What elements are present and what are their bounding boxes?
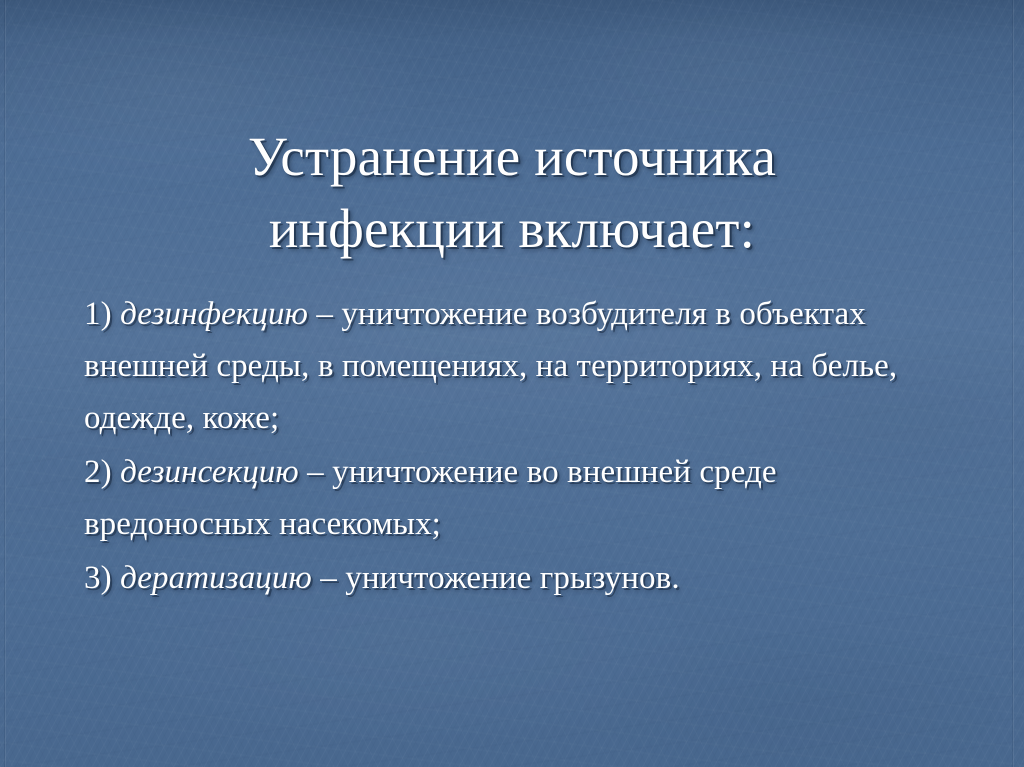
list-item-separator: – — [307, 454, 324, 490]
list-item-marker: 3) — [84, 560, 112, 596]
list-item-text: уничтожение грызунов. — [345, 560, 679, 596]
list-item-marker: 2) — [84, 454, 112, 490]
list-item-term: дератизацию — [120, 560, 312, 596]
slide-title: Устранение источника инфекции включает: — [0, 121, 1024, 265]
presentation-slide: Устранение источника инфекции включает: … — [0, 0, 1024, 767]
list-item: 2) дезинсекцию – уничтожение во внешней … — [84, 446, 940, 550]
list-item-separator: – — [316, 296, 333, 332]
list-item-term: дезинфекцию — [120, 296, 308, 332]
slide-content: Устранение источника инфекции включает: … — [0, 0, 1024, 767]
list-item: 1) дезинфекцию – уничтожение возбудителя… — [84, 288, 940, 444]
list-item-term: дезинсекцию — [120, 454, 299, 490]
slide-body-list: 1) дезинфекцию – уничтожение возбудителя… — [84, 288, 940, 606]
list-item-marker: 1) — [84, 296, 112, 332]
list-item: 3) дератизацию – уничтожение грызунов. — [84, 552, 940, 604]
list-item-separator: – — [320, 560, 337, 596]
